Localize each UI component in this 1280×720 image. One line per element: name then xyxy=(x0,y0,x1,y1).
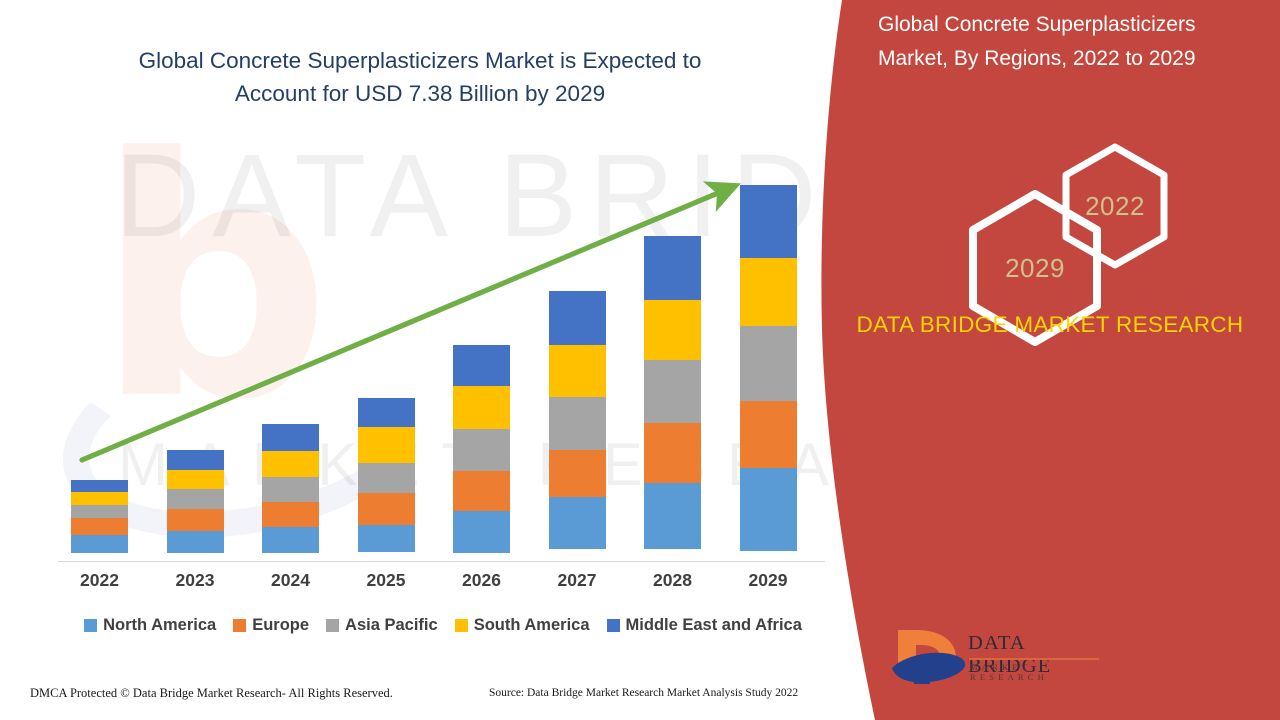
bar-segment[interactable] xyxy=(549,397,606,450)
legend-label: Asia Pacific xyxy=(345,616,438,635)
legend-swatch-icon xyxy=(607,619,620,632)
bar-segment[interactable] xyxy=(167,450,224,470)
chart-legend: North AmericaEuropeAsia PacificSouth Ame… xyxy=(58,616,828,635)
bar-segment[interactable] xyxy=(644,236,701,300)
bar-segment[interactable] xyxy=(71,505,128,518)
bar-segment[interactable] xyxy=(358,398,415,427)
bar-segment[interactable] xyxy=(644,483,701,549)
legend-label: North America xyxy=(103,616,216,635)
legend-item-south-america[interactable]: South America xyxy=(455,616,590,635)
bar-segment[interactable] xyxy=(262,424,319,451)
x-axis-line xyxy=(58,561,825,562)
bar-2028[interactable] xyxy=(644,236,701,553)
legend-swatch-icon xyxy=(233,619,246,632)
bar-segment[interactable] xyxy=(644,300,701,360)
x-tick-2028: 2028 xyxy=(638,570,708,591)
bar-segment[interactable] xyxy=(262,502,319,527)
bar-segment[interactable] xyxy=(549,497,606,549)
bar-segment[interactable] xyxy=(740,401,797,468)
x-tick-2029: 2029 xyxy=(733,570,803,591)
panel-brand-text: DATA BRIDGE MARKET RESEARCH xyxy=(850,308,1250,342)
x-tick-2025: 2025 xyxy=(351,570,421,591)
legend-swatch-icon xyxy=(326,619,339,632)
bar-segment[interactable] xyxy=(262,451,319,477)
legend-item-europe[interactable]: Europe xyxy=(233,616,309,635)
bar-segment[interactable] xyxy=(549,345,606,397)
bar-segment[interactable] xyxy=(167,470,224,489)
logo-divider xyxy=(969,658,1099,660)
bar-segment[interactable] xyxy=(453,345,510,386)
bar-segment[interactable] xyxy=(740,326,797,401)
panel-title: Global Concrete Superplasticizers Market… xyxy=(878,8,1268,76)
bar-2029[interactable] xyxy=(740,185,797,553)
x-tick-2024: 2024 xyxy=(256,570,326,591)
legend-item-middle-east-and-africa[interactable]: Middle East and Africa xyxy=(607,616,802,635)
bar-segment[interactable] xyxy=(358,493,415,525)
bar-2026[interactable] xyxy=(453,345,510,553)
bar-2023[interactable] xyxy=(167,450,224,553)
bar-segment[interactable] xyxy=(167,509,224,531)
brand-panel: Global Concrete Superplasticizers Market… xyxy=(820,0,1280,720)
x-tick-2022: 2022 xyxy=(65,570,135,591)
bar-2025[interactable] xyxy=(358,398,415,553)
bar-segment[interactable] xyxy=(358,463,415,493)
x-tick-2027: 2027 xyxy=(542,570,612,591)
bar-2022[interactable] xyxy=(71,480,128,553)
legend-item-asia-pacific[interactable]: Asia Pacific xyxy=(326,616,438,635)
bar-segment[interactable] xyxy=(740,258,797,326)
bar-segment[interactable] xyxy=(71,480,128,492)
bar-segment[interactable] xyxy=(740,185,797,258)
footer-source: Source: Data Bridge Market Research Mark… xyxy=(489,687,798,699)
bar-segment[interactable] xyxy=(71,518,128,535)
x-tick-2026: 2026 xyxy=(447,570,517,591)
hexagon-group: 2022 2029 xyxy=(820,140,1280,300)
legend-swatch-icon xyxy=(455,619,468,632)
bar-segment[interactable] xyxy=(453,429,510,471)
hexagon-2029-label: 2029 xyxy=(1005,253,1065,284)
legend-label: South America xyxy=(474,616,590,635)
bar-segment[interactable] xyxy=(644,423,701,483)
bar-segment[interactable] xyxy=(549,291,606,345)
bar-segment[interactable] xyxy=(71,492,128,505)
logo-b-mark xyxy=(892,630,965,684)
x-tick-2023: 2023 xyxy=(160,570,230,591)
bar-group xyxy=(0,0,845,553)
bar-segment[interactable] xyxy=(644,360,701,423)
legend-label: Middle East and Africa xyxy=(626,616,802,635)
bar-segment[interactable] xyxy=(453,386,510,429)
legend-label: Europe xyxy=(252,616,309,635)
bar-2027[interactable] xyxy=(549,291,606,553)
bar-segment[interactable] xyxy=(549,450,606,497)
bar-segment[interactable] xyxy=(740,468,797,551)
bar-segment[interactable] xyxy=(358,525,415,552)
data-bridge-logo: DATA BRIDGE MARKET RESEARCH xyxy=(890,622,1105,694)
legend-item-north-america[interactable]: North America xyxy=(84,616,216,635)
legend-swatch-icon xyxy=(84,619,97,632)
bar-segment[interactable] xyxy=(262,527,319,553)
bar-segment[interactable] xyxy=(167,531,224,553)
bar-segment[interactable] xyxy=(453,471,510,511)
chart-plot-area: 20222023202420252026202720282029 xyxy=(0,0,845,600)
bar-segment[interactable] xyxy=(358,427,415,463)
bar-segment[interactable] xyxy=(453,511,510,553)
footer-copyright: DMCA Protected © Data Bridge Market Rese… xyxy=(30,686,393,701)
logo-tagline: MARKET RESEARCH xyxy=(970,662,1105,682)
bar-segment[interactable] xyxy=(262,477,319,502)
bar-segment[interactable] xyxy=(167,489,224,509)
bar-segment[interactable] xyxy=(71,535,128,553)
infographic-canvas: b DATA BRIDGE MARKET RESEARCH Global Con… xyxy=(0,0,1280,720)
bar-2024[interactable] xyxy=(262,424,319,553)
